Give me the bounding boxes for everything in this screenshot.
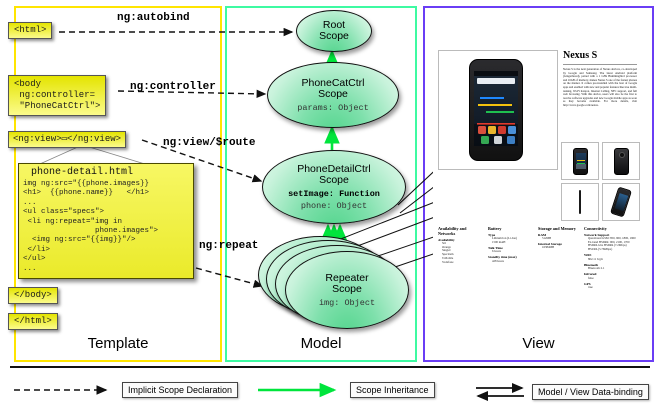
thumb-phone-body-0 (573, 148, 588, 175)
specs-value-3-2-0: Bluetooth 2.1 (584, 267, 636, 271)
label-ng-view-route: ng:view/$route (163, 137, 255, 149)
code-box-html-close[interactable]: </html> (8, 313, 58, 330)
app-icon-5 (481, 136, 489, 144)
wallpaper-line-yellow (478, 104, 512, 106)
scope-cat-l1: PhoneCatCtrl (301, 77, 364, 89)
scope-root-l1: Root (323, 19, 345, 31)
thumbnail-phone-side-edge[interactable] (561, 183, 599, 221)
app-icon-launcher (494, 136, 502, 144)
specs-column-battery: Battery Type Lithium Ion (Li-Ion) 1500 m… (488, 226, 534, 263)
code-box-body-close[interactable]: </body> (8, 287, 58, 304)
specs-value-2-1-0: 16384MB (538, 246, 580, 250)
app-icon-2 (488, 126, 496, 134)
thumbnail-phone-front-home[interactable] (561, 142, 599, 180)
note-code: img ng:src="{{phone.images}} <h1> {{phon… (23, 180, 189, 274)
phone-dock (474, 124, 518, 146)
app-icon-3 (498, 126, 506, 134)
thumb-phone-body-2 (579, 190, 581, 214)
rendered-view-page: Nexus S Nexus S is the next generation o… (433, 28, 641, 328)
scope-root-l2: Scope (319, 30, 349, 42)
app-icon-4 (508, 126, 516, 134)
legend-label-2: Model / View Data-binding (532, 384, 649, 400)
thumb-phone-body-1 (614, 148, 629, 175)
legend-item-scope-inheritance: Scope Inheritance (254, 382, 435, 398)
note-title: phone-detail.html (23, 167, 189, 180)
scope-rep-prop-img: img: Object (319, 298, 375, 308)
specs-value-1-0-1: 1500 mAH (488, 241, 534, 245)
scope-rep-l1: Repeater (325, 272, 368, 284)
scope-repeater-stack: Repeater Scope img: Object (258, 236, 410, 332)
legend-item-data-binding: Model / View Data-binding (472, 382, 649, 402)
app-icon-6 (507, 136, 515, 144)
phone-description: Nexus S is the next generation of Nexus … (563, 68, 637, 108)
legend-item-implicit-scope: Implicit Scope Declaration (10, 382, 238, 398)
scope-phonedetailctrl[interactable]: PhoneDetailCtrl Scope setImage: Function… (262, 150, 406, 224)
scope-cat-prop-params: params: Object (297, 103, 368, 113)
thumb-screen-0 (576, 153, 586, 169)
thumbnail-phone-angled[interactable] (602, 183, 640, 221)
legend-label-0: Implicit Scope Declaration (122, 382, 238, 398)
scope-rep-l2: Scope (332, 283, 362, 295)
scope-det-l2: Scope (319, 174, 349, 186)
diagram-canvas: Template Model View (0, 0, 660, 420)
scope-repeater-front[interactable]: Repeater Scope img: Object (285, 251, 409, 329)
label-ng-controller: ng:controller (130, 81, 216, 93)
title-divider (563, 64, 637, 65)
phone-image-large (469, 59, 523, 161)
scope-cat-l2: Scope (318, 88, 348, 100)
scope-det-l1: PhoneDetailCtrl (297, 163, 371, 175)
legend-label-1: Scope Inheritance (350, 382, 435, 398)
specs-heading-2: Storage and Memory (538, 226, 580, 231)
code-box-body-open[interactable]: <body ng:controller= "PhoneCatCtrl"> (8, 75, 106, 116)
edge-repeat (196, 268, 262, 286)
thumb-phone-body-3 (610, 187, 632, 218)
phone-screen (474, 71, 518, 146)
wallpaper-line-blue (480, 97, 504, 99)
scope-phonecatctrl[interactable]: PhoneCatCtrl Scope params: Object (267, 62, 399, 128)
phone-search-bar (477, 78, 515, 84)
phone-title: Nexus S (563, 50, 597, 61)
specs-value-2-0-0: 512MB (538, 237, 580, 241)
specs-column-connectivity: Connectivity Network Support Quad-band G… (584, 226, 636, 290)
scope-root[interactable]: Root Scope (296, 10, 372, 52)
specs-value-1-1-0: 6 hours (488, 250, 534, 254)
scope-det-prop-setimage: setImage: Function (288, 189, 380, 199)
specs-column-storage: Storage and Memory RAM 512MB Internal St… (538, 226, 580, 250)
specs-value-3-4-0: true (584, 286, 636, 290)
specs-column-availability: Availability and Networks Availability S… (438, 226, 482, 264)
scope-det-prop-phone: phone: Object (301, 201, 367, 211)
thumb-screen-3 (614, 193, 628, 211)
code-box-ngview[interactable]: <ng:view>▭</ng:view> (8, 131, 126, 148)
main-phone-screenshot[interactable] (438, 50, 558, 170)
specs-value-1-2-0: 428 hours (488, 260, 534, 264)
legend-divider (10, 366, 650, 368)
specs-value-0-0-5: Vodafone (438, 261, 482, 265)
code-box-html-open[interactable]: <html> (8, 22, 52, 39)
thumb-camera-1 (619, 152, 625, 158)
app-icon-1 (478, 126, 486, 134)
label-ng-repeat: ng:repeat (199, 240, 258, 252)
wallpaper-line-green (486, 111, 514, 113)
specs-value-3-3-0: false (584, 277, 636, 281)
legend-double-arrow-icon (472, 382, 532, 402)
template-note-phone-detail[interactable]: phone-detail.html img ng:src="{{phone.im… (18, 163, 194, 279)
legend-dashed-arrow-icon (10, 382, 122, 398)
specs-heading-3: Connectivity (584, 226, 636, 231)
specs-heading-1: Battery (488, 226, 534, 231)
legend-green-arrow-icon (254, 382, 350, 398)
label-ng-autobind: ng:autobind (117, 12, 190, 24)
specs-value-3-0-0: Quad-band GSM: 850, 900, 1800, 1900 Ex-b… (584, 237, 636, 252)
specs-heading-0: Availability and Networks (438, 226, 482, 236)
specs-value-3-1-0: 802.11 b/g/n (584, 258, 636, 262)
phone-notification-bar (474, 71, 518, 76)
thumbnail-phone-back[interactable] (602, 142, 640, 180)
